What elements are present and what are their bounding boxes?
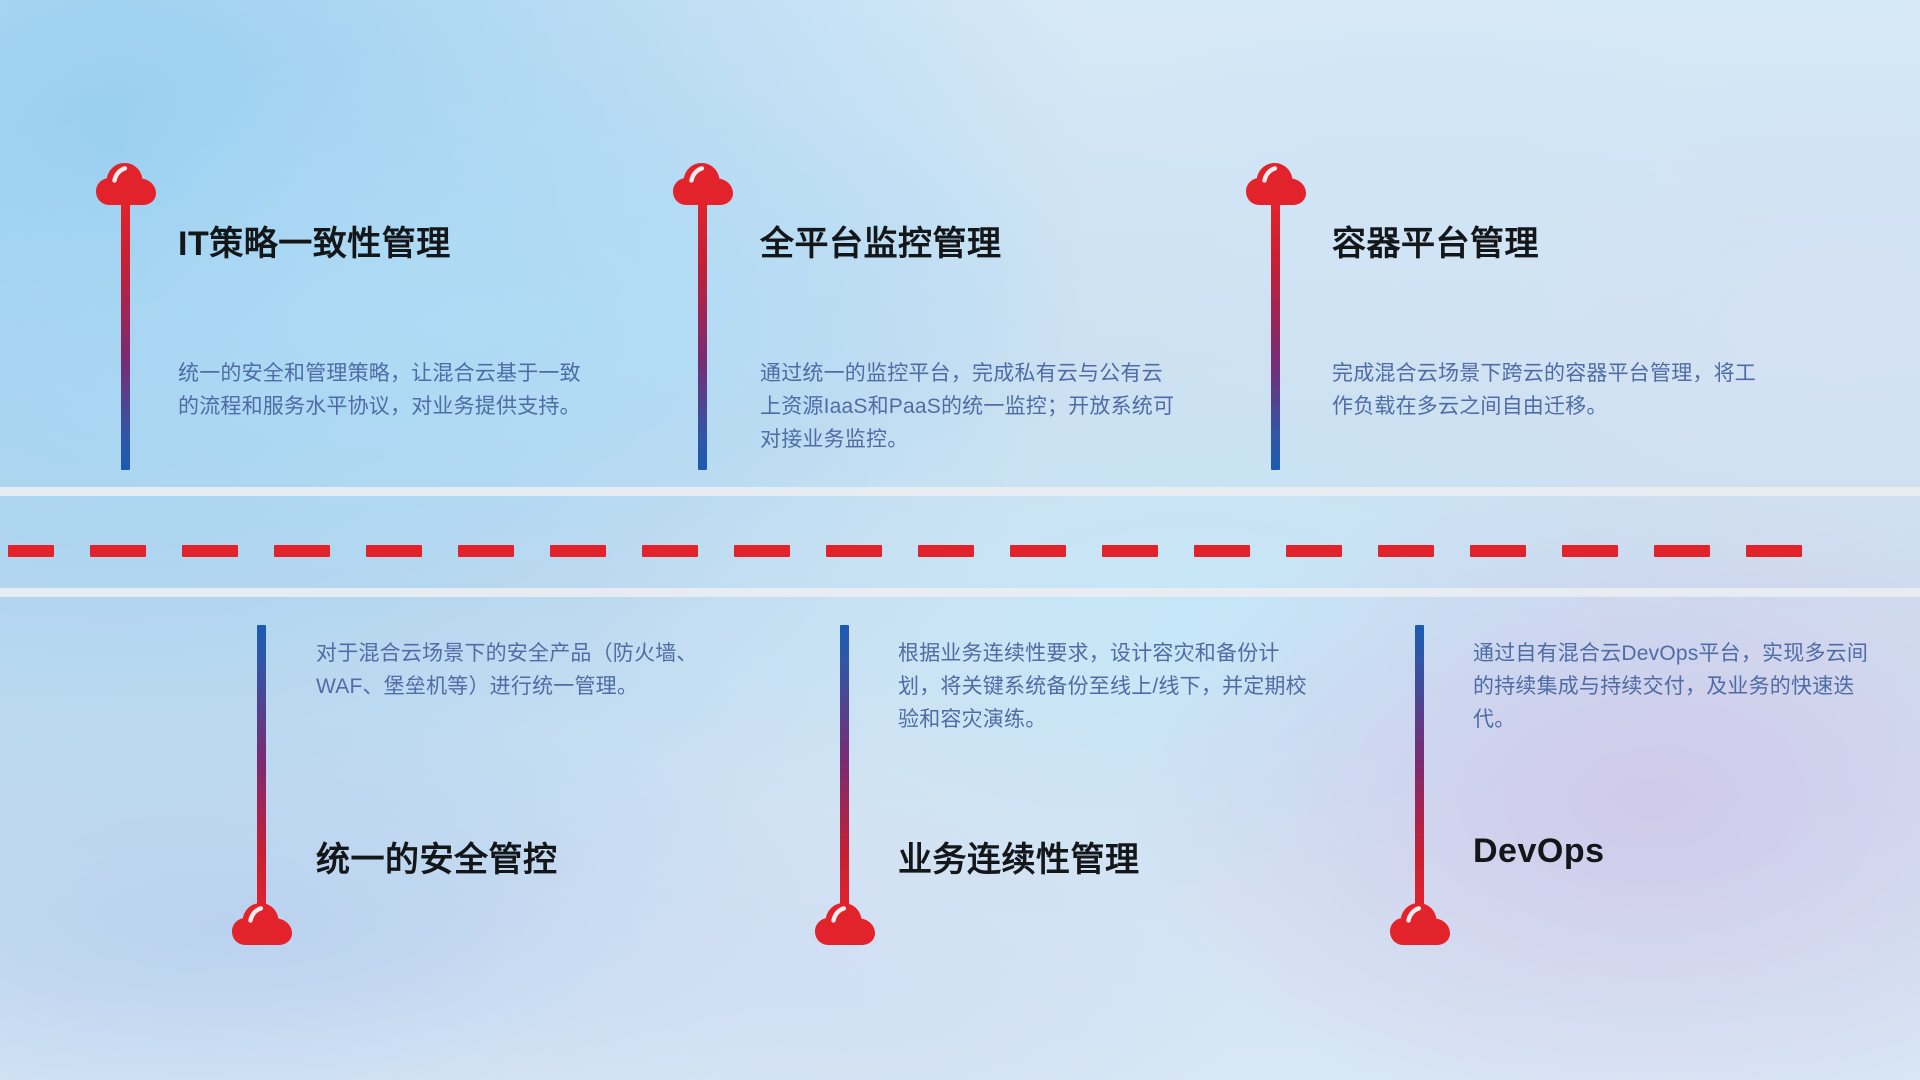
section-description: 通过统一的监控平台，完成私有云与公有云上资源IaaS和PaaS的统一监控；开放系… (760, 357, 1180, 456)
dash-segment (642, 545, 698, 557)
dash-segment (550, 545, 606, 557)
section-heading: 全平台监控管理 (760, 216, 1002, 265)
dash-segment (734, 545, 790, 557)
cloud-icon (1389, 900, 1451, 946)
connector-line (840, 625, 849, 910)
section-heading: IT策略一致性管理 (178, 216, 451, 265)
divider-line-top (0, 487, 1920, 496)
dash-segment (1194, 545, 1250, 557)
dash-segment (458, 545, 514, 557)
connector-line (1415, 625, 1424, 910)
connector-line (121, 202, 130, 470)
section-description: 通过自有混合云DevOps平台，实现多云间的持续集成与持续交付，及业务的快速迭代… (1473, 637, 1873, 736)
section-heading: 业务连续性管理 (898, 832, 1140, 881)
dash-segment (366, 545, 422, 557)
dash-segment (1654, 545, 1710, 557)
connector-line (1271, 202, 1280, 470)
cloud-icon (672, 160, 734, 206)
section-description: 完成混合云场景下跨云的容器平台管理，将工作负载在多云之间自由迁移。 (1332, 357, 1762, 423)
section-description: 对于混合云场景下的安全产品（防火墙、WAF、堡垒机等）进行统一管理。 (316, 637, 736, 703)
cloud-icon (1245, 160, 1307, 206)
section-description: 统一的安全和管理策略，让混合云基于一致的流程和服务水平协议，对业务提供支持。 (178, 357, 598, 423)
dash-segment (1102, 545, 1158, 557)
dash-segment (1470, 545, 1526, 557)
divider-line-bottom (0, 588, 1920, 597)
section-heading: 容器平台管理 (1332, 216, 1539, 265)
dash-segment (1746, 545, 1802, 557)
dash-segment (918, 545, 974, 557)
section-heading: 统一的安全管控 (316, 832, 558, 881)
dash-segment (1562, 545, 1618, 557)
cloud-icon (814, 900, 876, 946)
dash-segment (1010, 545, 1066, 557)
connector-line (698, 202, 707, 470)
dash-segment (90, 545, 146, 557)
dash-segment (1286, 545, 1342, 557)
dashed-divider (0, 545, 1920, 557)
dash-segment (274, 545, 330, 557)
connector-line (257, 625, 266, 910)
infographic-canvas: IT策略一致性管理 统一的安全和管理策略，让混合云基于一致的流程和服务水平协议，… (0, 0, 1920, 1080)
section-description: 根据业务连续性要求，设计容灾和备份计划，将关键系统备份至线上/线下，并定期校验和… (898, 637, 1318, 736)
dash-segment (182, 545, 238, 557)
dash-segment (8, 545, 54, 557)
section-heading: DevOps (1473, 832, 1605, 871)
dash-segment (1378, 545, 1434, 557)
dash-segment (826, 545, 882, 557)
cloud-icon (231, 900, 293, 946)
cloud-icon (95, 160, 157, 206)
